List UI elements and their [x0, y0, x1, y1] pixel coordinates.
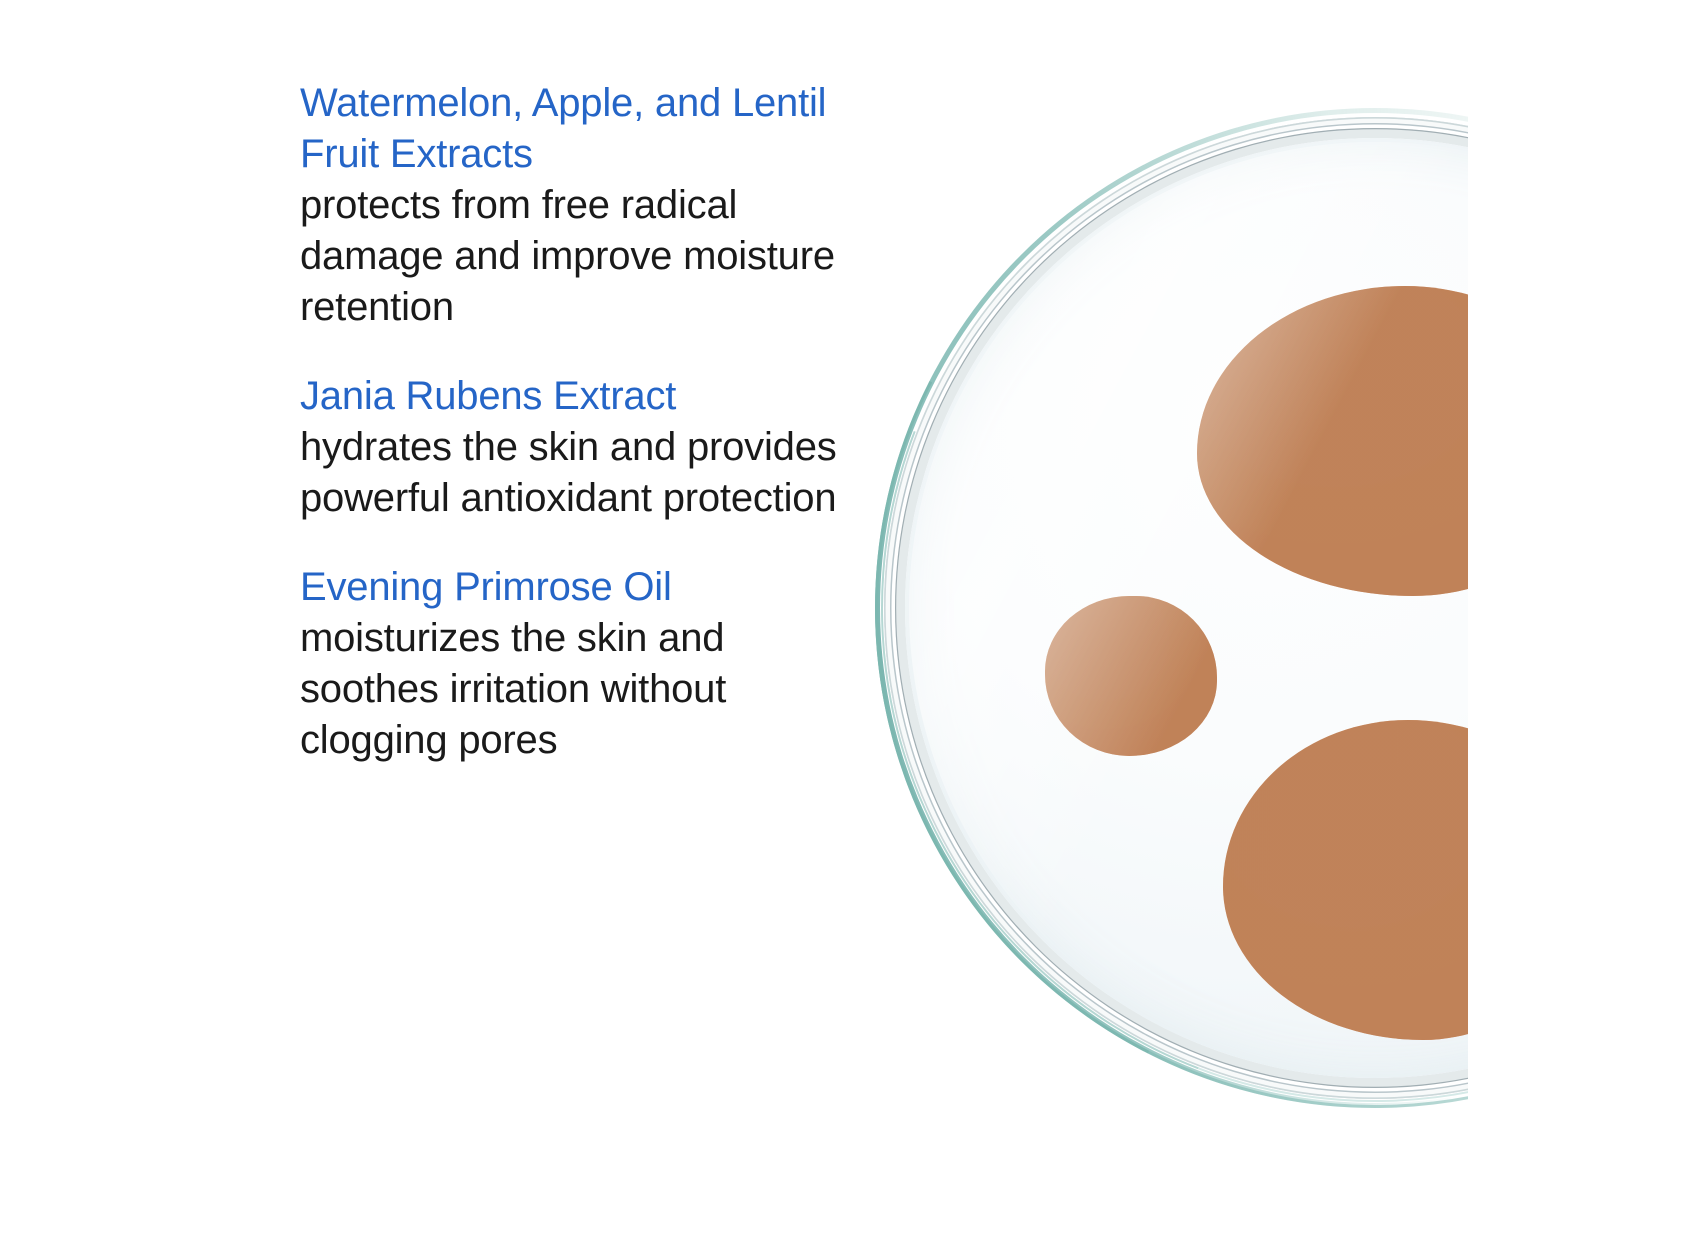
benefit-item: Evening Primrose Oil moisturizes the ski… [300, 562, 840, 766]
dish-interior [905, 138, 1470, 1078]
benefit-description: moisturizes the skin and soothes irritat… [300, 613, 840, 766]
petri-dish [875, 108, 1470, 1108]
benefit-title: Watermelon, Apple, and Lentil Fruit Extr… [300, 78, 840, 180]
benefits-list: Watermelon, Apple, and Lentil Fruit Extr… [300, 78, 840, 766]
cream-blob-large-top [1197, 286, 1470, 596]
cream-blob-small-center [1045, 596, 1217, 756]
benefit-description: hydrates the skin and provides powerful … [300, 422, 840, 524]
benefit-description: protects from free radical damage and im… [300, 180, 840, 333]
slide-canvas: Watermelon, Apple, and Lentil Fruit Extr… [0, 0, 1700, 1233]
cream-blob-large-bottom [1223, 720, 1470, 1040]
benefit-title: Evening Primrose Oil [300, 562, 840, 613]
photo-crop-mask [1468, 0, 1700, 1233]
benefit-title: Jania Rubens Extract [300, 371, 840, 422]
benefit-item: Jania Rubens Extract hydrates the skin a… [300, 371, 840, 524]
product-photo [845, 0, 1470, 1233]
benefit-item: Watermelon, Apple, and Lentil Fruit Extr… [300, 78, 840, 333]
